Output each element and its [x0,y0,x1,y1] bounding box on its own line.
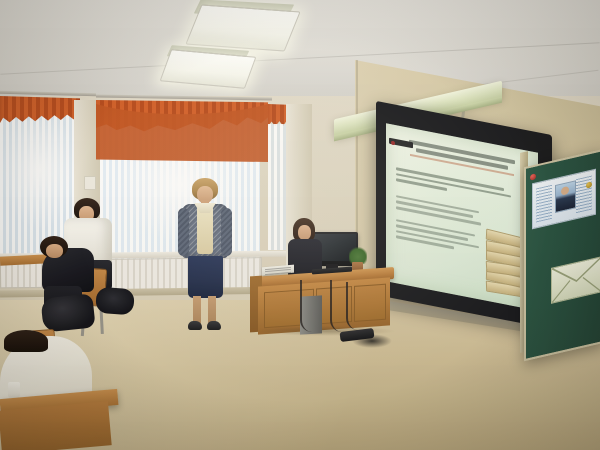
teacher-leg-left [193,296,201,324]
assistant-face [298,225,311,240]
teacher-blouse [197,206,213,254]
student-head [46,244,63,258]
ceiling-light-panel-1 [185,4,300,51]
teacher-arm-right [221,208,232,256]
teacher-shoe-right [207,321,221,330]
cable [300,280,318,332]
backpack-2[interactable] [95,287,135,316]
poster-face [561,186,569,196]
cup[interactable] [8,382,20,398]
teacher-shoe-left [188,321,202,330]
teacher-leg-right [208,296,216,324]
window-center-valance-arch [96,100,268,162]
teacher-skirt [188,256,223,298]
cable [330,280,346,332]
whiteboard-screen[interactable] [386,123,538,311]
poster-portrait-photo [555,180,576,213]
cable [346,282,366,330]
student-desk-foreground-front [0,401,112,450]
student-hair [4,330,48,352]
poster-text-column-left [536,185,552,223]
classroom-photo [0,0,600,450]
teacher-standing [176,178,234,336]
whiteboard-power-led [391,141,395,146]
backpack[interactable] [40,293,95,332]
teacher-arm-left [178,208,189,256]
wall-socket [84,176,96,190]
